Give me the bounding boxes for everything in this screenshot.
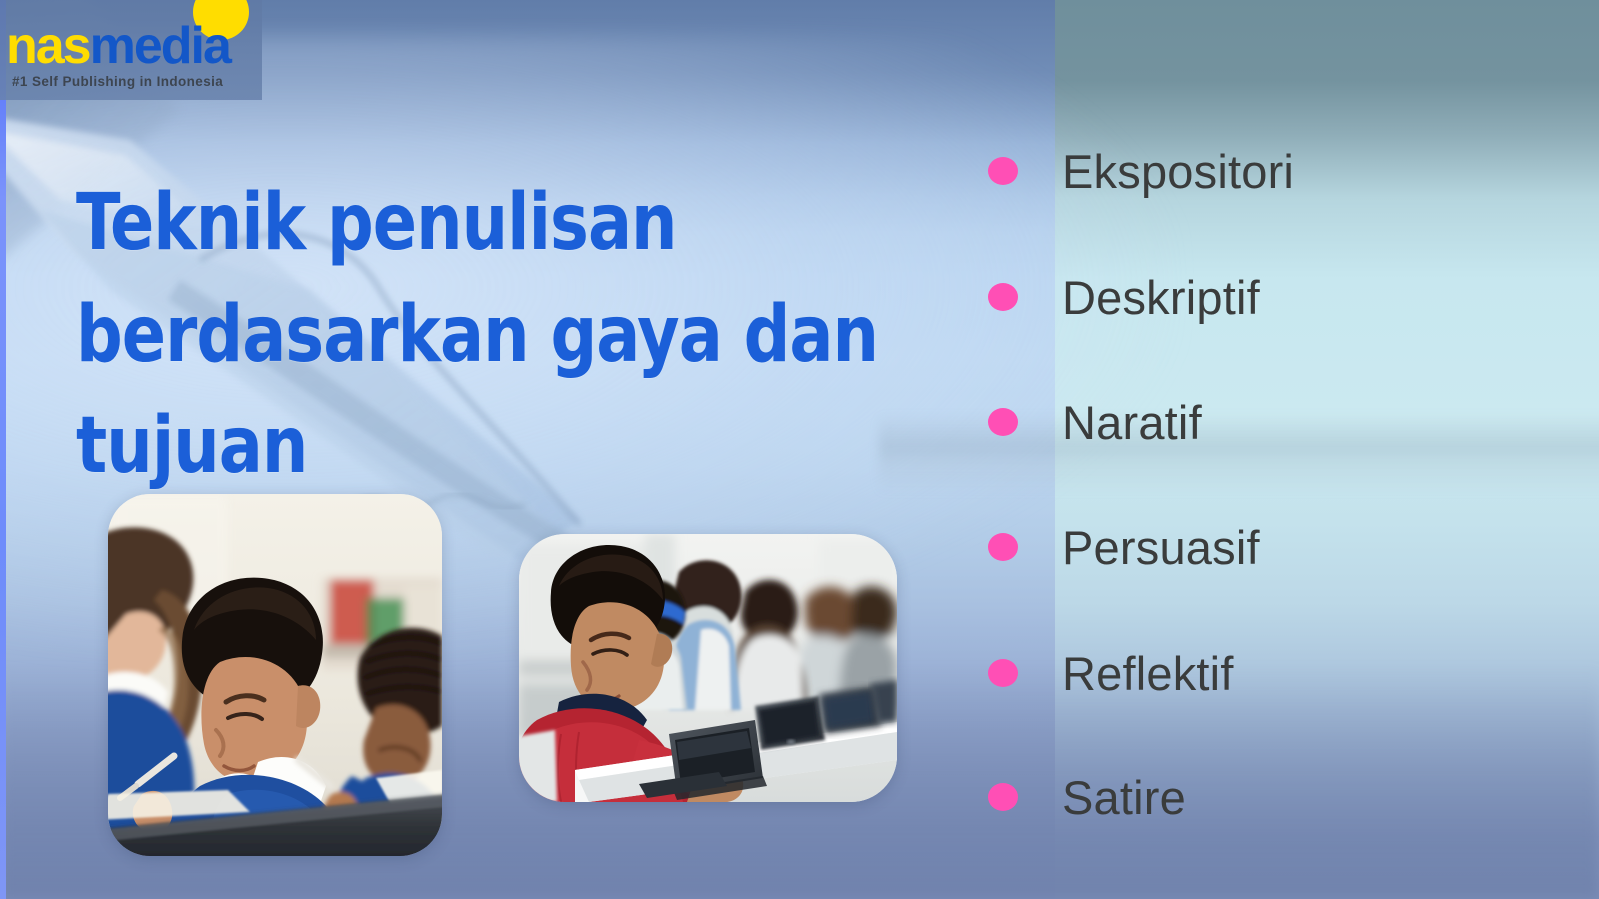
list-item-deskriptif[interactable]: Deskriptif bbox=[988, 266, 1260, 328]
bullet-dot-icon bbox=[988, 283, 1018, 311]
nasmedia-logo[interactable]: nasmedia #1 Self Publishing in Indonesia bbox=[0, 0, 262, 100]
bullet-dot-icon bbox=[988, 408, 1018, 436]
slide-canvas: nasmedia #1 Self Publishing in Indonesia… bbox=[0, 0, 1599, 899]
slide-title-line-1: Teknik penulisan bbox=[76, 168, 811, 280]
list-item-persuasif[interactable]: Persuasif bbox=[988, 516, 1260, 578]
logo-wordmark-part-1: nas bbox=[6, 17, 90, 75]
list-item-label: Ekspositori bbox=[1062, 148, 1294, 195]
bullet-dot-icon bbox=[988, 783, 1018, 811]
bullet-dot-icon bbox=[988, 157, 1018, 185]
left-accent-strip bbox=[0, 0, 6, 899]
list-item-satire[interactable]: Satire bbox=[988, 766, 1186, 828]
list-item-label: Deskriptif bbox=[1062, 274, 1260, 321]
slide-title-line-2: berdasarkan gaya dan bbox=[76, 280, 811, 392]
logo-wordmark: nasmedia bbox=[6, 20, 230, 72]
logo-tagline: #1 Self Publishing in Indonesia bbox=[12, 74, 223, 89]
list-item-reflektif[interactable]: Reflektif bbox=[988, 642, 1234, 704]
list-item-label: Satire bbox=[1062, 774, 1186, 821]
bullet-dot-icon bbox=[988, 533, 1018, 561]
slide-title-line-3: tujuan bbox=[76, 391, 811, 503]
logo-wordmark-part-2: media bbox=[90, 17, 230, 75]
slide-title: Teknik penulisan berdasarkan gaya dan tu… bbox=[76, 168, 811, 503]
list-item-label: Naratif bbox=[1062, 399, 1202, 446]
writing-styles-list: Ekspositori Deskriptif Naratif Persuasif… bbox=[988, 118, 1548, 848]
list-item-naratif[interactable]: Naratif bbox=[988, 391, 1202, 453]
list-item-ekspositori[interactable]: Ekspositori bbox=[988, 140, 1294, 202]
photo-students-using-tablets bbox=[519, 534, 897, 802]
list-item-label: Persuasif bbox=[1062, 524, 1260, 571]
bullet-dot-icon bbox=[988, 659, 1018, 687]
photo-students-writing bbox=[108, 494, 442, 856]
list-item-label: Reflektif bbox=[1062, 650, 1234, 697]
